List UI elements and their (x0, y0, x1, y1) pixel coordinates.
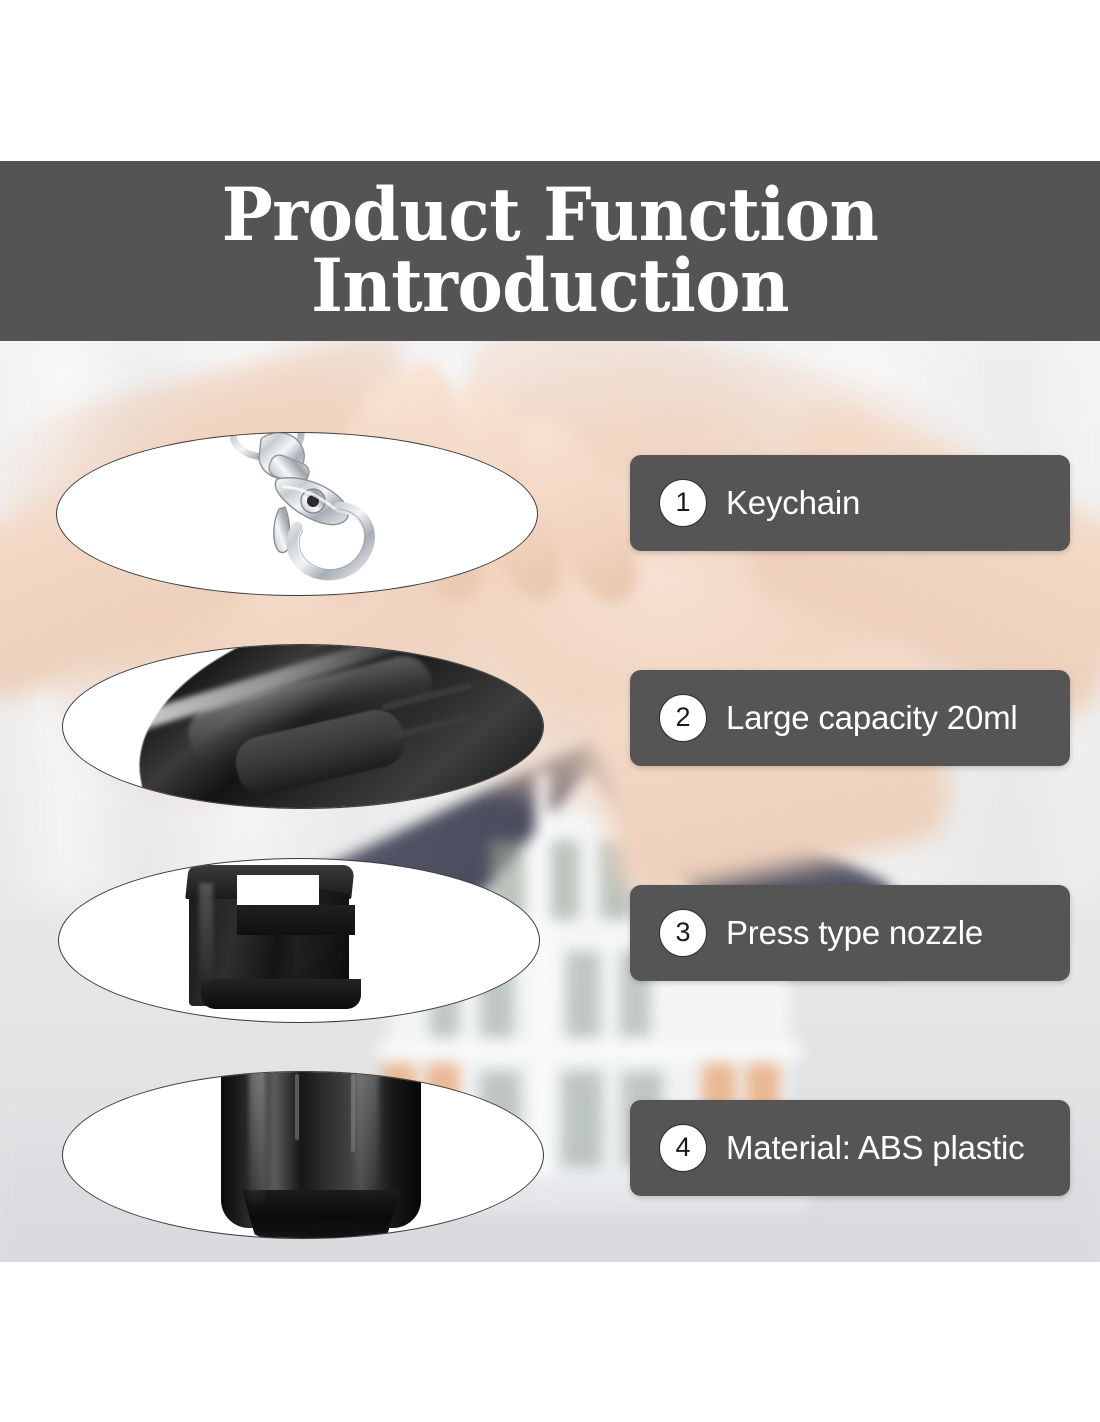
feature-number-badge-2: 2 (659, 694, 707, 742)
callout-oval-keychain-image (57, 433, 537, 595)
feature-label-1: Keychain (726, 484, 860, 522)
house-floor-band (378, 1041, 802, 1061)
product-photo-area: 1 Keychain 2 Large capacity 20ml 3 Press… (0, 341, 1100, 1262)
house-window (562, 1071, 602, 1167)
callout-oval-material-image (63, 1072, 543, 1238)
press-nozzle-highlight (199, 883, 213, 993)
feature-box-1[interactable]: 1 Keychain (630, 455, 1070, 551)
callout-oval-nozzle (58, 858, 540, 1023)
abs-plastic-highlight (353, 1072, 379, 1202)
house-window (566, 951, 600, 1037)
top-white-margin (0, 0, 1100, 161)
feature-number-badge-1: 1 (659, 479, 707, 527)
header-band: Product Function Introduction (0, 161, 1100, 341)
callout-oval-capacity-image (63, 645, 543, 808)
feature-number-badge-4: 4 (659, 1124, 707, 1172)
abs-plastic-slit (295, 1074, 299, 1140)
abs-plastic-highlight (249, 1071, 265, 1206)
bottom-white-margin (0, 1262, 1100, 1422)
feature-box-2[interactable]: 2 Large capacity 20ml (630, 670, 1070, 766)
press-nozzle-notch-shadow (237, 905, 355, 935)
feature-box-4[interactable]: 4 Material: ABS plastic (630, 1100, 1070, 1196)
press-nozzle-base (201, 979, 361, 1009)
page-title: Product Function Introduction (194, 180, 906, 322)
callout-oval-nozzle-image (59, 859, 539, 1022)
feature-label-3: Press type nozzle (726, 914, 983, 952)
feature-label-4: Material: ABS plastic (726, 1129, 1024, 1167)
callout-oval-keychain (56, 432, 538, 596)
feature-number-badge-3: 3 (659, 909, 707, 957)
keychain-clasp-icon (217, 432, 397, 595)
callout-oval-capacity (62, 644, 544, 809)
feature-box-3[interactable]: 3 Press type nozzle (630, 885, 1070, 981)
callout-oval-material (62, 1071, 544, 1239)
abs-plastic-tip (311, 1224, 359, 1239)
feature-label-2: Large capacity 20ml (726, 699, 1018, 737)
